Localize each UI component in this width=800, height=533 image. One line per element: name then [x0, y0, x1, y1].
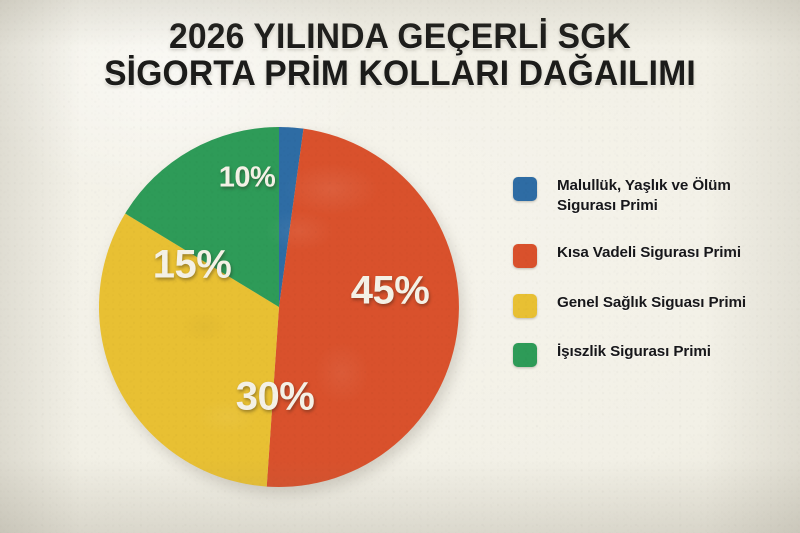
- legend-swatch-green-icon: [513, 343, 537, 367]
- legend-label-issizlik: İşıszlik Sigurası Primi: [557, 342, 711, 362]
- legend-swatch-yellow-icon: [513, 294, 537, 318]
- title-line-1: 2026 YILINDA GEÇERLİ SGK: [16, 18, 784, 55]
- legend-label-genel-saglik: Genel Sağlık Siguası Primi: [557, 293, 746, 313]
- legend-item-issizlik[interactable]: İşıszlik Sigurası Primi: [513, 342, 711, 367]
- slice-label-45: 45%: [351, 269, 430, 314]
- slice-label-10: 10%: [219, 162, 276, 195]
- slice-label-30: 30%: [236, 375, 315, 420]
- slice-label-15: 15%: [153, 243, 232, 288]
- pie-chart-poster: 2026 YILINDA GEÇERLİ SGK SİGORTA PRİM KO…: [0, 0, 800, 533]
- legend-item-genel-saglik[interactable]: Genel Sağlık Siguası Primi: [513, 293, 746, 318]
- legend-label-kisa-vadeli: Kısa Vadeli Sigurası Primi: [557, 243, 741, 263]
- legend-label-malulluk: Malullük, Yaşlık ve Ölüm Sigurası Primi: [557, 176, 787, 216]
- legend-swatch-blue-icon: [513, 177, 537, 201]
- pie-chart: 10% 15% 45% 30%: [99, 127, 459, 487]
- page-title: 2026 YILINDA GEÇERLİ SGK SİGORTA PRİM KO…: [0, 18, 800, 92]
- legend-item-kisa-vadeli[interactable]: Kısa Vadeli Sigurası Primi: [513, 243, 741, 268]
- legend-item-malulluk[interactable]: Malullük, Yaşlık ve Ölüm Sigurası Primi: [513, 176, 787, 216]
- title-line-2: SİGORTA PRİM KOLLARI DAĞAILIMI: [16, 55, 784, 92]
- legend-swatch-red-icon: [513, 244, 537, 268]
